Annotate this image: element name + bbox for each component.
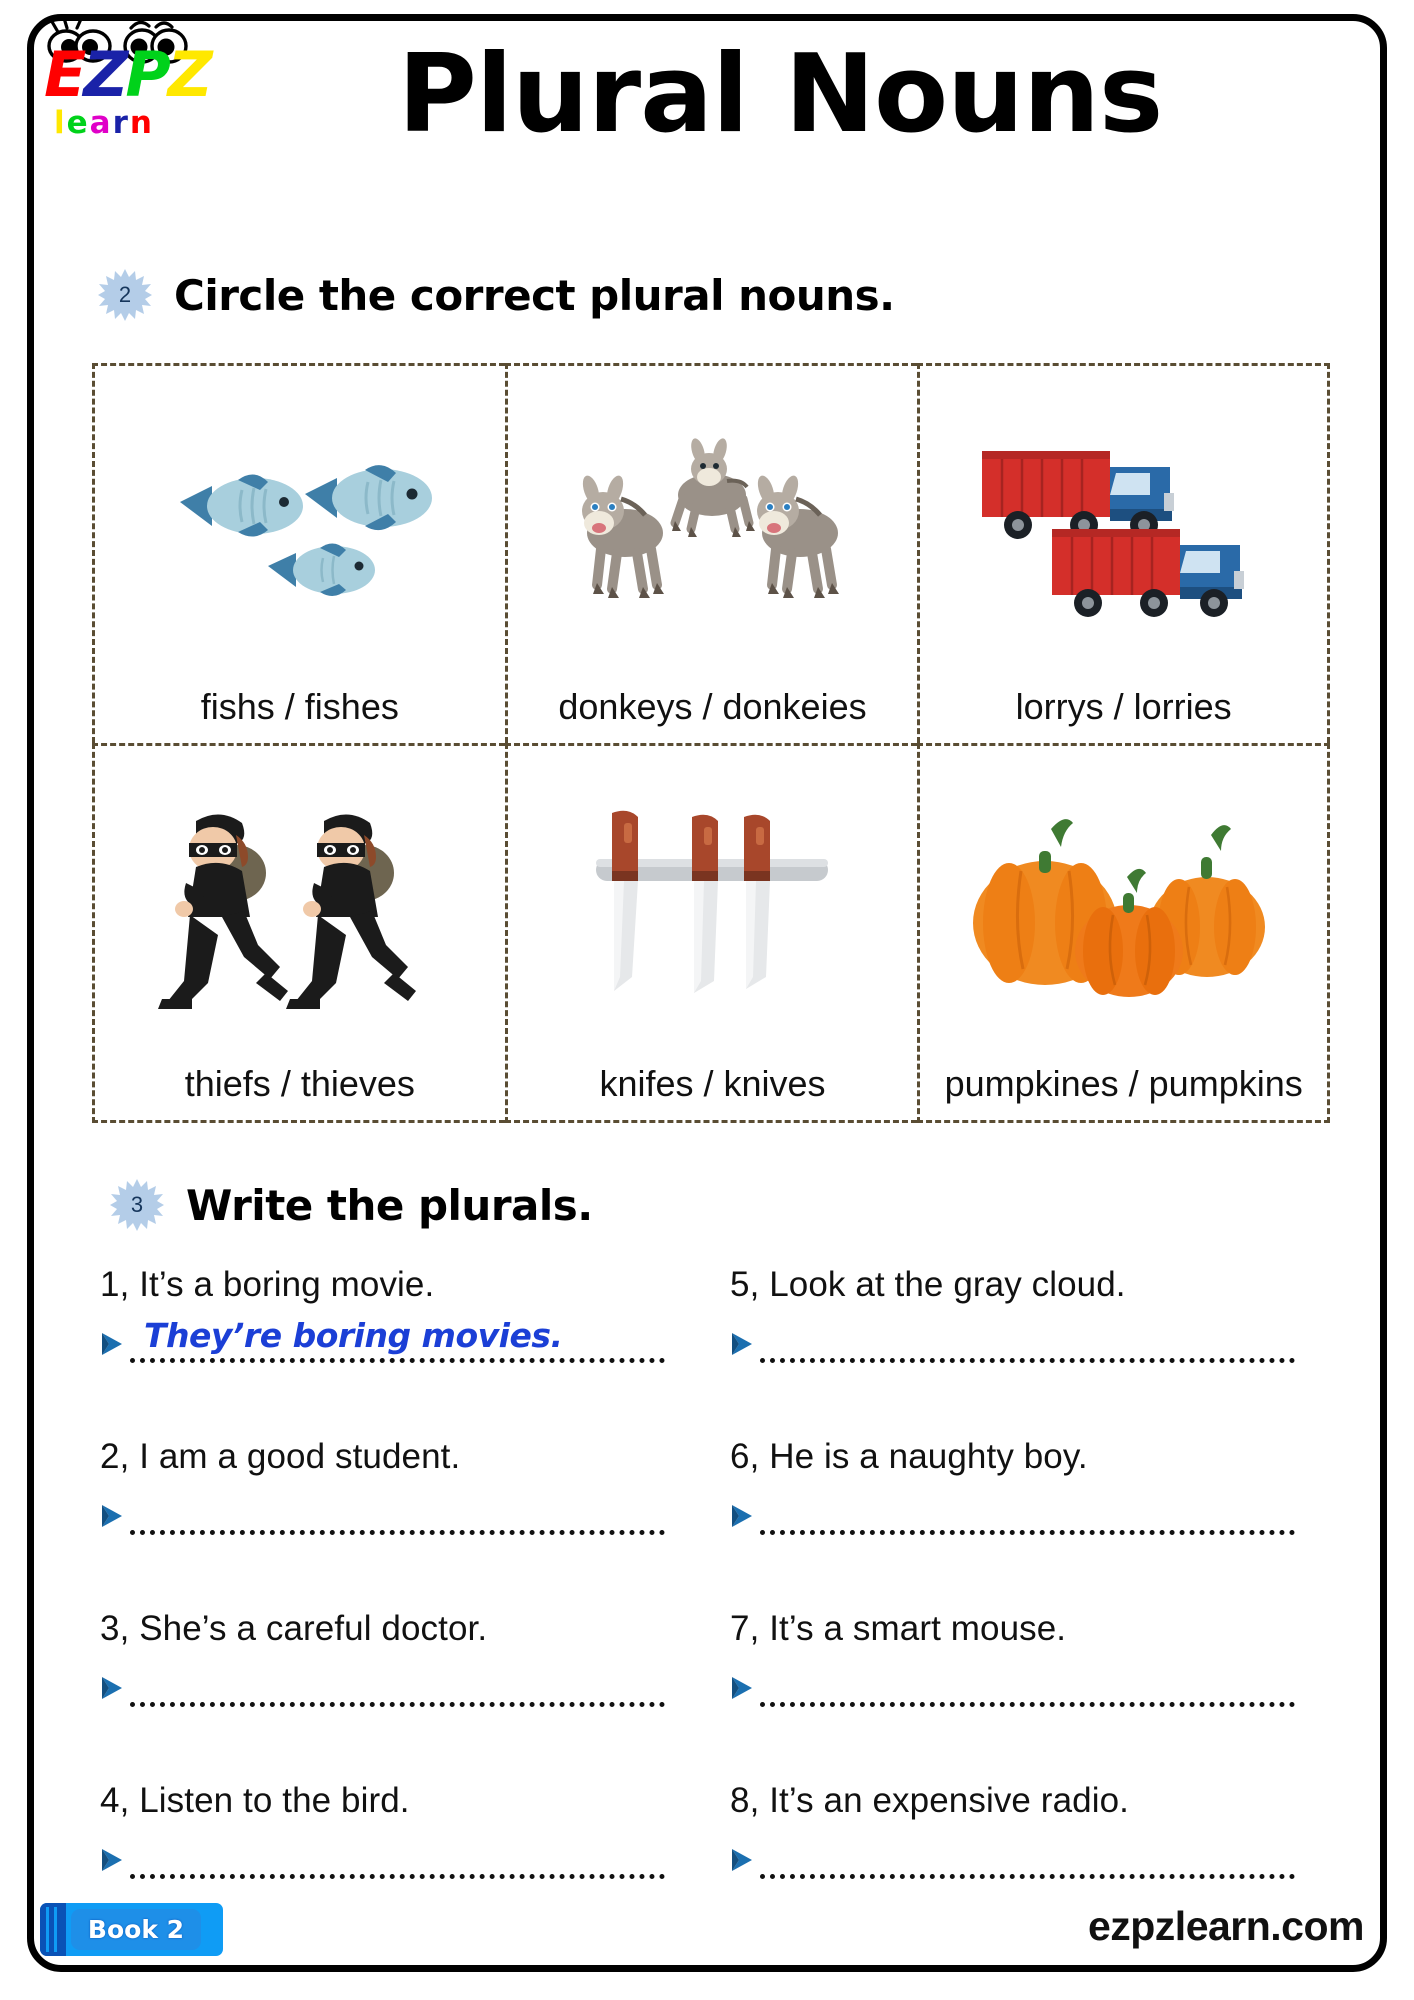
plural-choice-grid: fishs / fishes — [92, 363, 1330, 1123]
section-3-badge: 3 — [110, 1178, 164, 1232]
pumpkin-illustration — [926, 758, 1321, 1062]
cell-label-pumpkin: pumpkines / pumpkins — [945, 1062, 1303, 1120]
arrow-right-icon — [100, 1675, 124, 1701]
donkey-illustration — [514, 378, 912, 685]
answer-line[interactable]: They’re boring movies. — [130, 1319, 665, 1363]
answer-line[interactable] — [130, 1663, 665, 1707]
cell-label-knife: knifes / knives — [599, 1062, 825, 1120]
knife-icon — [572, 803, 852, 1018]
question-prompt: 3, She’s a careful doctor. — [100, 1609, 700, 1649]
answer-text: They’re boring movies. — [144, 1316, 563, 1355]
page-title: Plural Nouns — [250, 38, 1310, 151]
question-item-2: 2, I am a good student. — [100, 1437, 700, 1609]
answer-line[interactable] — [760, 1663, 1295, 1707]
fish-illustration — [101, 378, 499, 685]
lorry-icon — [974, 437, 1274, 627]
question-item-6: 6, He is a naughty boy. — [730, 1437, 1330, 1609]
logo-letter-z1: Z — [83, 44, 125, 106]
question-prompt: 2, I am a good student. — [100, 1437, 700, 1477]
logo-sub-letter-e: e — [67, 105, 90, 141]
grid-cell-pumpkin[interactable]: pumpkines / pumpkins — [917, 743, 1330, 1123]
thief-illustration — [101, 758, 499, 1062]
question-item-1: 1, It’s a boring movie. They’re boring m… — [100, 1265, 700, 1437]
answer-line[interactable] — [760, 1319, 1295, 1363]
section-3-header: 3 Write the plurals. — [110, 1178, 593, 1232]
arrow-right-icon — [100, 1503, 124, 1529]
book-spine-line-2 — [54, 1907, 57, 1952]
grid-cell-knife[interactable]: knifes / knives — [505, 743, 918, 1123]
book-badge[interactable]: Book 2 — [40, 1903, 223, 1956]
fish-icon — [150, 442, 450, 622]
section-3-title: Write the plurals. — [186, 1181, 593, 1230]
answer-row[interactable] — [730, 1319, 1295, 1363]
answer-row[interactable] — [100, 1663, 665, 1707]
logo-letter-e1: E — [44, 44, 83, 106]
section-2-header: 2 Circle the correct plural nouns. — [98, 268, 895, 322]
ezpz-learn-logo[interactable]: EZPZ learn — [36, 16, 222, 148]
logo-wordmark: EZPZ — [44, 44, 210, 106]
thief-icon — [150, 805, 450, 1015]
grid-cell-lorry[interactable]: lorrys / lorries — [917, 363, 1330, 743]
arrow-right-icon — [730, 1675, 754, 1701]
answer-row[interactable] — [730, 1491, 1295, 1535]
write-plurals-grid: 1, It’s a boring movie. They’re boring m… — [100, 1265, 1330, 1953]
question-prompt: 1, It’s a boring movie. — [100, 1265, 700, 1305]
lorry-illustration — [926, 378, 1321, 685]
donkey-icon — [557, 437, 867, 627]
grid-cell-thief[interactable]: thiefs / thieves — [92, 743, 505, 1123]
grid-cell-donkey[interactable]: donkeys / donkeies — [505, 363, 918, 743]
section-2-number: 2 — [98, 268, 152, 322]
question-item-5: 5, Look at the gray cloud. — [730, 1265, 1330, 1437]
arrow-right-icon — [730, 1847, 754, 1873]
arrow-right-icon — [100, 1847, 124, 1873]
grid-cell-fish[interactable]: fishs / fishes — [92, 363, 505, 743]
answer-line[interactable] — [130, 1835, 665, 1879]
book-spine — [40, 1903, 66, 1956]
question-item-7: 7, It’s a smart mouse. — [730, 1609, 1330, 1781]
arrow-right-icon — [730, 1331, 754, 1357]
knife-illustration — [514, 758, 912, 1062]
question-prompt: 4, Listen to the bird. — [100, 1781, 700, 1821]
logo-letter-z2: Z — [168, 44, 210, 106]
section-2-title: Circle the correct plural nouns. — [174, 271, 895, 320]
pumpkin-icon — [969, 815, 1279, 1005]
answer-line[interactable] — [130, 1491, 665, 1535]
question-prompt: 6, He is a naughty boy. — [730, 1437, 1330, 1477]
section-3-number: 3 — [110, 1178, 164, 1232]
answer-row[interactable] — [100, 1835, 665, 1879]
book-label: Book 2 — [71, 1909, 201, 1950]
logo-sub-letter-l: l — [54, 105, 67, 141]
logo-subwordmark: learn — [54, 108, 154, 139]
arrow-right-icon — [100, 1331, 124, 1357]
cell-label-thief: thiefs / thieves — [185, 1062, 415, 1120]
answer-row[interactable] — [100, 1491, 665, 1535]
section-2-badge: 2 — [98, 268, 152, 322]
logo-sub-letter-a: a — [90, 105, 113, 141]
worksheet-page: EZPZ learn Plural Nouns 2 Circle the cor… — [0, 0, 1414, 2000]
answer-row[interactable] — [730, 1663, 1295, 1707]
book-spine-line-1 — [46, 1907, 49, 1952]
question-prompt: 7, It’s a smart mouse. — [730, 1609, 1330, 1649]
cell-label-donkey: donkeys / donkeies — [558, 685, 866, 743]
answer-line[interactable] — [760, 1491, 1295, 1535]
question-item-3: 3, She’s a careful doctor. — [100, 1609, 700, 1781]
cell-label-fish: fishs / fishes — [201, 685, 399, 743]
question-prompt: 8, It’s an expensive radio. — [730, 1781, 1330, 1821]
question-prompt: 5, Look at the gray cloud. — [730, 1265, 1330, 1305]
answer-row[interactable]: They’re boring movies. — [100, 1319, 665, 1363]
logo-letter-p: P — [125, 44, 167, 106]
answer-line[interactable] — [760, 1835, 1295, 1879]
website-url[interactable]: ezpzlearn.com — [1088, 1903, 1364, 1950]
cell-label-lorry: lorrys / lorries — [1016, 685, 1232, 743]
logo-sub-letter-n: n — [130, 105, 154, 141]
answer-row[interactable] — [730, 1835, 1295, 1879]
arrow-right-icon — [730, 1503, 754, 1529]
logo-sub-letter-r: r — [113, 105, 130, 141]
